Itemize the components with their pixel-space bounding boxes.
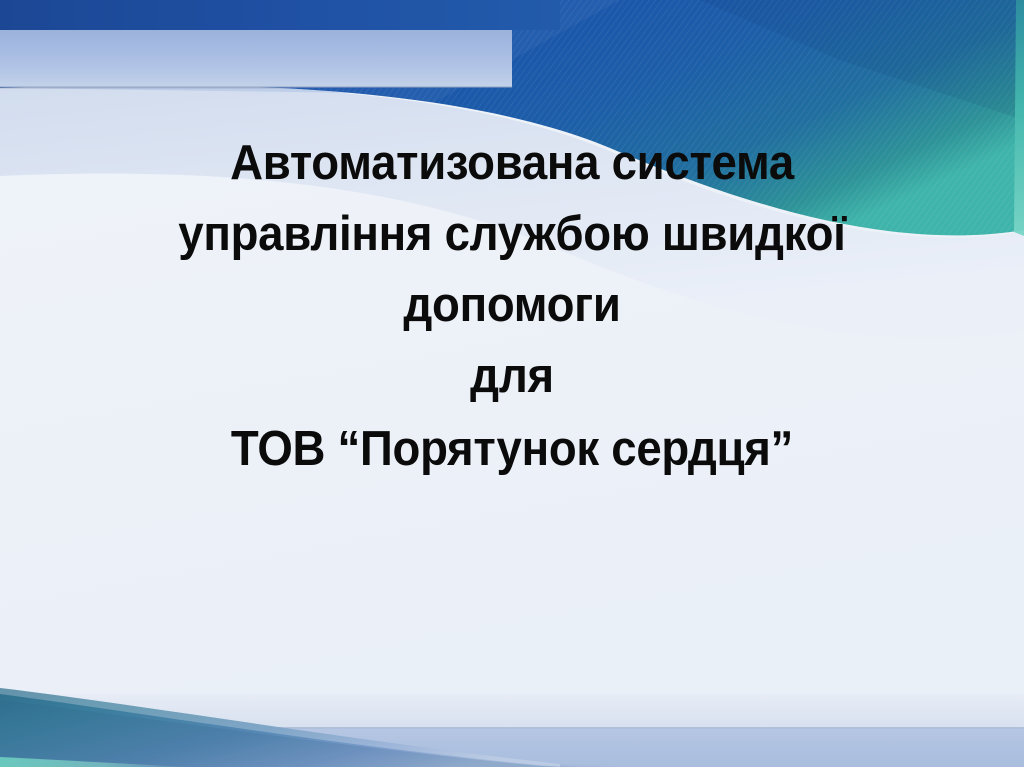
- title-line-4: для: [88, 341, 936, 412]
- title-line-3: допомоги: [88, 270, 936, 341]
- top-band-overlay-hairline: [0, 86, 512, 88]
- presentation-slide: Автоматизована система управління службо…: [0, 0, 1024, 767]
- title-line-2: управління службою швидкої: [88, 199, 936, 270]
- top-band-overlay: [0, 30, 512, 87]
- title-line-5: ТОВ “Порятунок сердця”: [88, 414, 936, 485]
- title-line-1: Автоматизована система: [88, 128, 936, 199]
- slide-title-block: Автоматизована система управління службо…: [0, 128, 1024, 485]
